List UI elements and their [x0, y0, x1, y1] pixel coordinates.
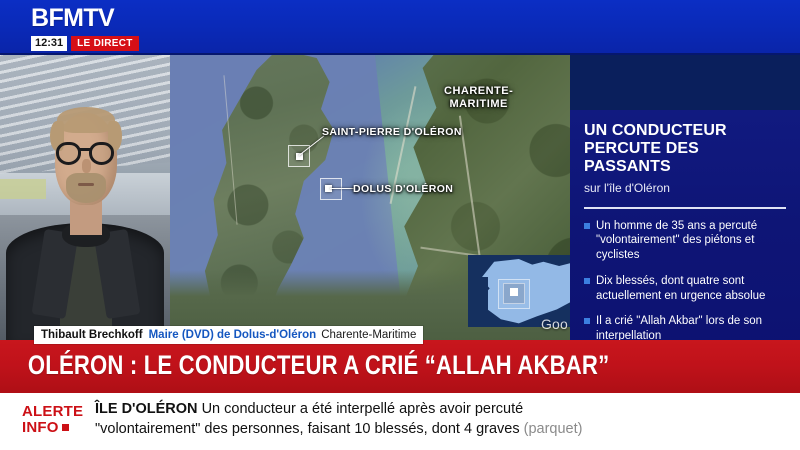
live-direct-badge: LE DIRECT [71, 36, 138, 51]
guest-mouth [78, 183, 94, 186]
panel-divider [584, 207, 786, 209]
ticker-line-2: "volontairement" des personnes, faisant … [95, 420, 786, 440]
headline-text: OLÉRON : LE CONDUCTEUR A CRIÉ “ALLAH AKB… [0, 350, 609, 381]
panel-headline-line1: UN CONDUCTEUR [584, 122, 786, 140]
inset-location-dot [510, 288, 518, 296]
guest-role: Maire (DVD) de Dolus-d'Oléron [149, 329, 317, 341]
ticker-line-1-text: Un conducteur a été interpellé après avo… [202, 401, 524, 417]
alert-label-line2-wrap: INFO [22, 420, 95, 436]
broadcast-screen: BFMTV 12:31 LE DIRECT [0, 0, 800, 450]
google-watermark: Goo [541, 316, 568, 332]
panel-bullet-list: Un homme de 35 ans a percuté "volontaire… [584, 219, 786, 344]
guest-nose [82, 159, 91, 173]
map-leader-line-dolus [330, 188, 355, 189]
alert-label-line1: ALERTE [22, 404, 95, 420]
map-label-dolus: DOLUS D'OLÉRON [353, 183, 453, 195]
bfmtv-logo: BFMTV [31, 6, 114, 31]
channel-header-bar: BFMTV 12:31 LE DIRECT [0, 0, 800, 55]
clock-readout: 12:31 [31, 36, 67, 51]
ticker-line-1: ÎLE D'OLÉRON Un conducteur a été interpe… [95, 400, 786, 420]
panel-headline-line3: PASSANTS [584, 158, 786, 176]
headline-banner: OLÉRON : LE CONDUCTEUR A CRIÉ “ALLAH AKB… [0, 340, 800, 390]
ticker-kicker: ÎLE D'OLÉRON [95, 401, 198, 417]
bullet-square-icon [584, 223, 590, 229]
alert-info-label: ALERTE INFO [0, 404, 95, 436]
panel-headline: UN CONDUCTEUR PERCUTE DES PASSANTS [584, 122, 786, 176]
inset-atlantic [468, 277, 488, 327]
map-region-label: CHARENTE- MARITIME [444, 85, 513, 110]
eyeglasses-bridge [80, 148, 91, 151]
ticker-body: ÎLE D'OLÉRON Un conducteur a été interpe… [95, 400, 800, 439]
list-item: Un homme de 35 ans a percuté "volontaire… [584, 219, 786, 263]
bullet-square-icon [584, 278, 590, 284]
bullet-text: Un homme de 35 ans a percuté "volontaire… [596, 220, 757, 261]
green-wall-panel [0, 179, 46, 199]
guest-name: Thibault Brechkoff [41, 329, 143, 341]
eyeglasses-lens-left [56, 142, 81, 165]
satellite-map: CHARENTE- MARITIME SAINT-PIERRE D'OLÉRON… [170, 55, 570, 340]
bullet-square-icon [584, 318, 590, 324]
map-region-label-line2: MARITIME [444, 98, 513, 111]
guest-hair [57, 107, 115, 133]
eyeglasses-lens-right [89, 142, 114, 165]
guest-beard [66, 173, 106, 203]
bullet-text: Dix blessés, dont quatre sont actuelleme… [596, 275, 765, 302]
guest-location: Charente-Maritime [321, 329, 416, 341]
map-region-label-line1: CHARENTE- [444, 85, 513, 98]
map-label-saint-pierre: SAINT-PIERRE D'OLÉRON [322, 126, 462, 138]
list-item: Dix blessés, dont quatre sont actuelleme… [584, 274, 786, 303]
alert-label-line2: INFO [22, 420, 59, 436]
alert-square-icon [62, 424, 69, 431]
panel-headline-line2: PERCUTE DES [584, 140, 786, 158]
panel-subtitle: sur l'île d'Oléron [584, 181, 786, 195]
ticker-line-2-text: "volontairement" des personnes, faisant … [95, 421, 520, 437]
video-stage: CHARENTE- MARITIME SAINT-PIERRE D'OLÉRON… [0, 55, 800, 340]
guest-name-banner: Thibault Brechkoff Maire (DVD) de Dolus-… [34, 326, 423, 344]
live-time-badge: 12:31 LE DIRECT [31, 36, 139, 51]
bullet-text: Il a crié "Allah Akbar" lors de son inte… [596, 315, 762, 342]
ticker-source: (parquet) [524, 421, 583, 437]
news-ticker: ALERTE INFO ÎLE D'OLÉRON Un conducteur a… [0, 390, 800, 450]
guest-video-feed [0, 55, 170, 340]
